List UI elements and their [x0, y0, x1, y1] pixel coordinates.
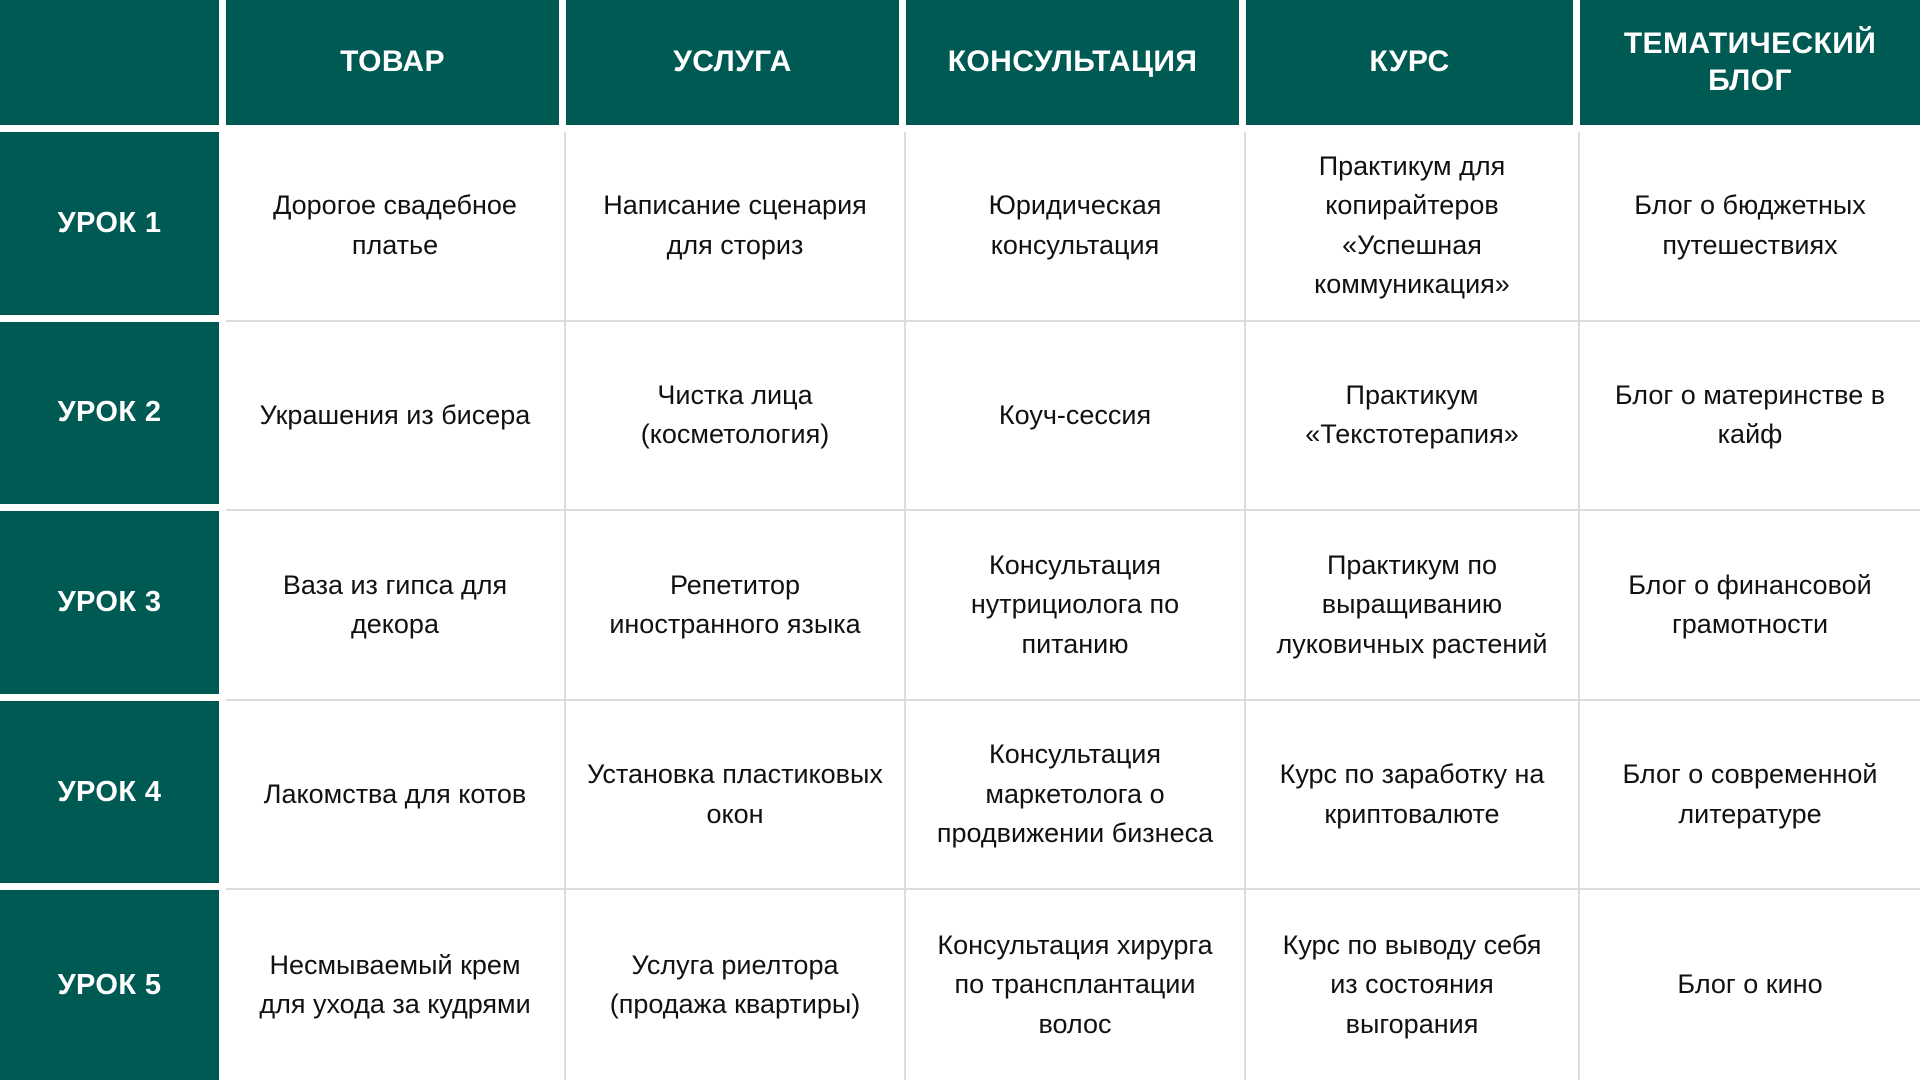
row-header-lesson-4: УРОК 4 — [0, 701, 226, 891]
table-row: УРОК 1 Дорогое свадебное платье Написани… — [0, 132, 1920, 322]
cell-text: Практикум для копирайтеров «Успешная ком… — [1266, 147, 1558, 305]
cell-text: Юридическая консультация — [926, 186, 1224, 265]
cell-text: Практикум «Текстотерапия» — [1266, 376, 1558, 455]
cell-text: Репетитор иностранного языка — [586, 566, 884, 645]
cell-lesson-4-usluga: Установка пластиковых окон — [566, 701, 906, 891]
cell-text: Консультация маркетолога о продвижении б… — [926, 735, 1224, 853]
table-row: УРОК 2 Украшения из бисера Чистка лица (… — [0, 322, 1920, 512]
cell-lesson-2-tovar: Украшения из бисера — [226, 322, 566, 512]
cell-text: Блог о современной литературе — [1600, 755, 1900, 834]
cell-text: Лакомства для котов — [246, 775, 544, 814]
cell-text: Блог о финансовой грамотности — [1600, 566, 1900, 645]
column-header-tematicheskiy-blog: ТЕМАТИЧЕСКИЙ БЛОГ — [1580, 0, 1920, 132]
cell-text: Несмываемый крем для ухода за кудрями — [246, 946, 544, 1025]
cell-lesson-1-tovar: Дорогое свадебное платье — [226, 132, 566, 322]
cell-text: Написание сценария для сториз — [586, 186, 884, 265]
column-header-tovar: ТОВАР — [226, 0, 566, 132]
cell-lesson-1-usluga: Написание сценария для сториз — [566, 132, 906, 322]
cell-text: Коуч-сессия — [926, 396, 1224, 435]
cell-lesson-4-blog: Блог о современной литературе — [1580, 701, 1920, 891]
cell-text: Блог о материнстве в кайф — [1600, 376, 1900, 455]
cell-lesson-3-tovar: Ваза из гипса для декора — [226, 511, 566, 701]
cell-text: Блог о бюджетных путешествиях — [1600, 186, 1900, 265]
cell-lesson-4-kurs: Курс по заработку на криптовалюте — [1246, 701, 1580, 891]
table-row: УРОК 3 Ваза из гипса для декора Репетито… — [0, 511, 1920, 701]
cell-lesson-1-kurs: Практикум для копирайтеров «Успешная ком… — [1246, 132, 1580, 322]
column-header-usluga: УСЛУГА — [566, 0, 906, 132]
column-header-konsultaciya: КОНСУЛЬТАЦИЯ — [906, 0, 1246, 132]
cell-lesson-3-usluga: Репетитор иностранного языка — [566, 511, 906, 701]
cell-lesson-2-usluga: Чистка лица (косметология) — [566, 322, 906, 512]
row-header-lesson-2: УРОК 2 — [0, 322, 226, 512]
cell-text: Установка пластиковых окон — [586, 755, 884, 834]
row-header-lesson-5: УРОК 5 — [0, 890, 226, 1080]
cell-lesson-2-kurs: Практикум «Текстотерапия» — [1246, 322, 1580, 512]
cell-lesson-5-tovar: Несмываемый крем для ухода за кудрями — [226, 890, 566, 1080]
cell-lesson-3-konsultaciya: Консультация нутрициолога по питанию — [906, 511, 1246, 701]
lesson-content-matrix-table: ТОВАР УСЛУГА КОНСУЛЬТАЦИЯ КУРС ТЕМАТИЧЕС… — [0, 0, 1920, 1080]
cell-lesson-5-blog: Блог о кино — [1580, 890, 1920, 1080]
cell-lesson-5-usluga: Услуга риелтора (продажа квартиры) — [566, 890, 906, 1080]
cell-text: Курс по выводу себя из состояния выгоран… — [1266, 926, 1558, 1044]
table-row: УРОК 5 Несмываемый крем для ухода за куд… — [0, 890, 1920, 1080]
cell-lesson-5-kurs: Курс по выводу себя из состояния выгоран… — [1246, 890, 1580, 1080]
cell-text: Консультация нутрициолога по питанию — [926, 546, 1224, 664]
cell-lesson-3-kurs: Практикум по выращиванию луковичных раст… — [1246, 511, 1580, 701]
cell-text: Консультация хирурга по трансплантации в… — [926, 926, 1224, 1044]
cell-lesson-4-konsultaciya: Консультация маркетолога о продвижении б… — [906, 701, 1246, 891]
cell-text: Курс по заработку на криптовалюте — [1266, 755, 1558, 834]
cell-text: Чистка лица (косметология) — [586, 376, 884, 455]
cell-lesson-1-blog: Блог о бюджетных путешествиях — [1580, 132, 1920, 322]
cell-text: Украшения из бисера — [246, 396, 544, 435]
cell-text: Практикум по выращиванию луковичных раст… — [1266, 546, 1558, 664]
cell-lesson-3-blog: Блог о финансовой грамотности — [1580, 511, 1920, 701]
row-header-lesson-3: УРОК 3 — [0, 511, 226, 701]
table-row: УРОК 4 Лакомства для котов Установка пла… — [0, 701, 1920, 891]
cell-lesson-2-blog: Блог о материнстве в кайф — [1580, 322, 1920, 512]
cell-lesson-4-tovar: Лакомства для котов — [226, 701, 566, 891]
table-corner-cell — [0, 0, 226, 132]
cell-lesson-2-konsultaciya: Коуч-сессия — [906, 322, 1246, 512]
cell-lesson-5-konsultaciya: Консультация хирурга по трансплантации в… — [906, 890, 1246, 1080]
table-header-row: ТОВАР УСЛУГА КОНСУЛЬТАЦИЯ КУРС ТЕМАТИЧЕС… — [0, 0, 1920, 132]
cell-text: Услуга риелтора (продажа квартиры) — [586, 946, 884, 1025]
cell-text: Дорогое свадебное платье — [246, 186, 544, 265]
row-header-lesson-1: УРОК 1 — [0, 132, 226, 322]
cell-text: Ваза из гипса для декора — [246, 566, 544, 645]
column-header-kurs: КУРС — [1246, 0, 1580, 132]
cell-text: Блог о кино — [1600, 965, 1900, 1004]
cell-lesson-1-konsultaciya: Юридическая консультация — [906, 132, 1246, 322]
